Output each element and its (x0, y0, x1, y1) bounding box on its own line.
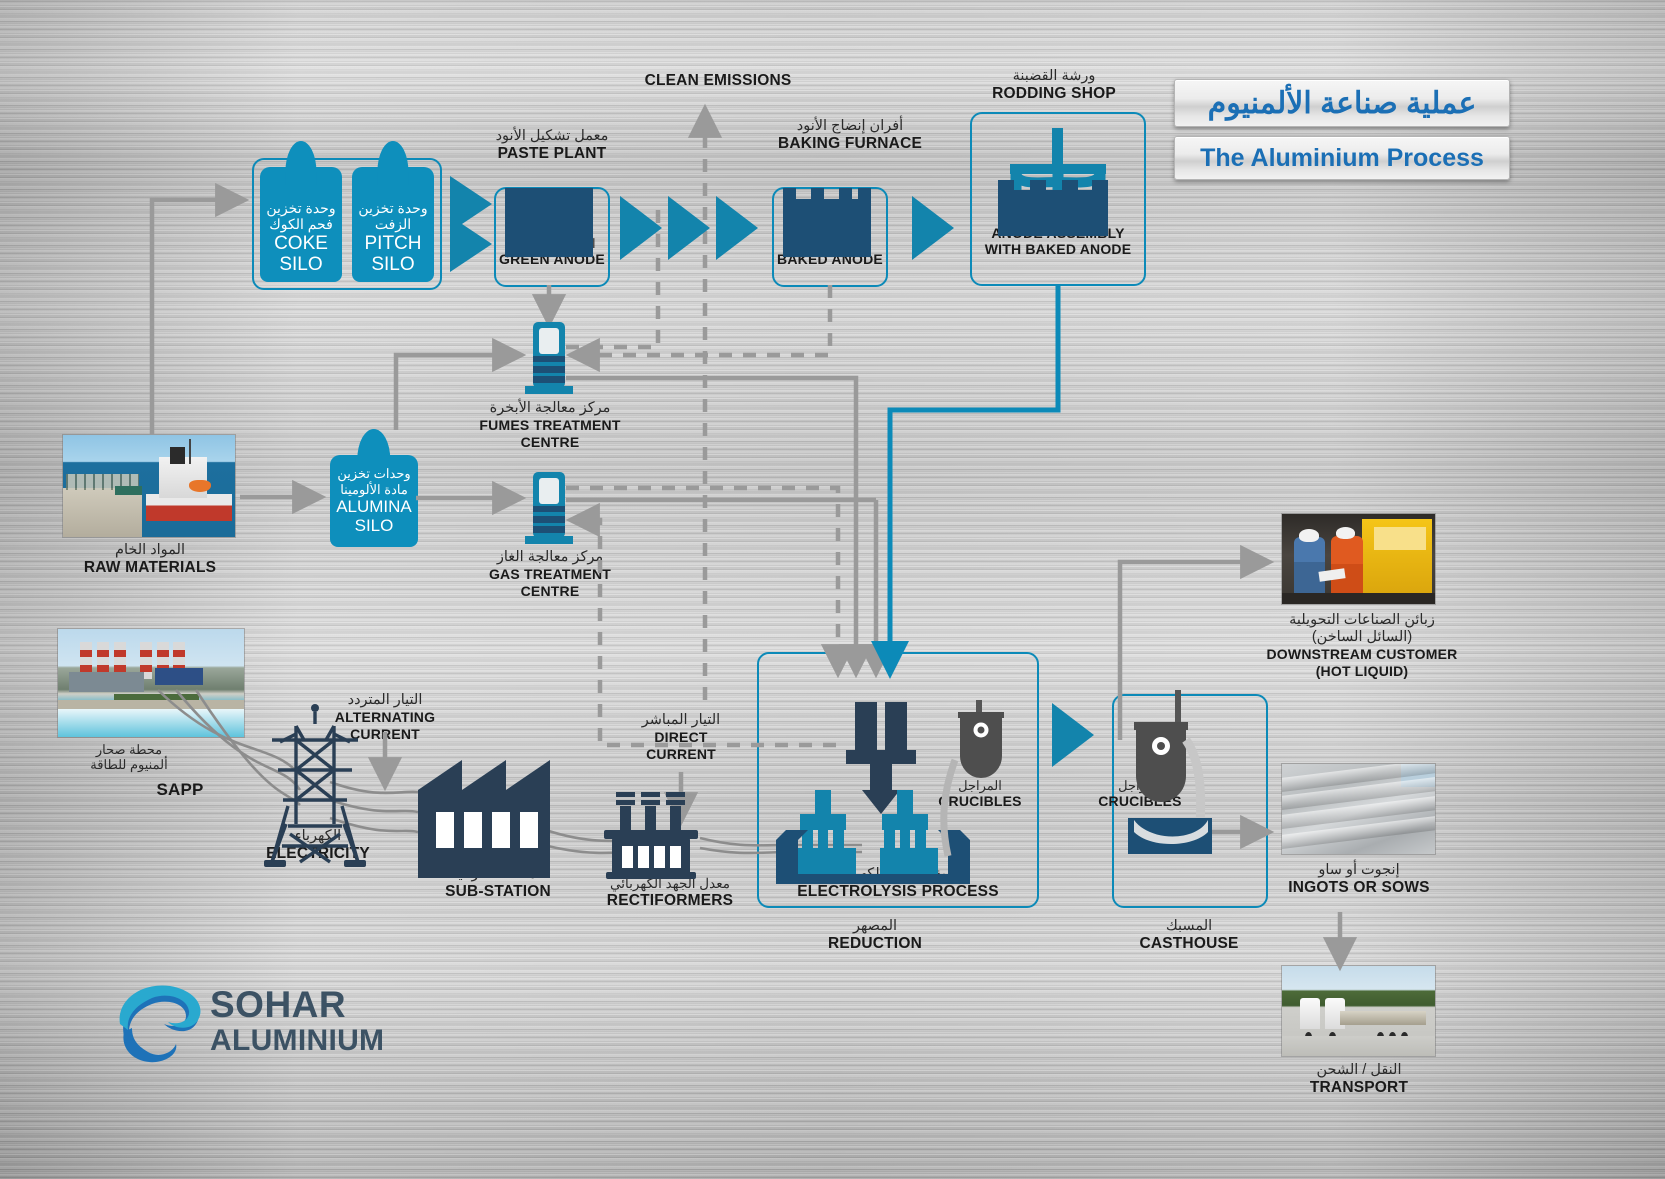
alumina-silo-ar: وحدات تخزينمادة الألومينا (337, 466, 410, 497)
power-cables (158, 690, 862, 853)
pitch-silo-label-ar: وحدة تخزين الزفت (352, 200, 434, 233)
coke-silo-label-ar: وحدة تخزين فحم الكوك (260, 200, 342, 233)
alumina-silo[interactable]: وحدات تخزينمادة الألومينا ALUMINASILO (330, 455, 418, 547)
alumina-silo-en: ALUMINASILO (336, 497, 412, 536)
aluminium-process-infographic: عملية صناعة الألمنيوم The Aluminium Proc… (0, 0, 1665, 1179)
grey-solid-connectors (152, 200, 1340, 965)
connector-layer (0, 0, 1665, 1179)
grey-dashed-connectors (566, 110, 838, 745)
pitch-silo-label-en: PITCHSILO (365, 233, 422, 276)
coke-silo-label-en: COKESILO (274, 233, 328, 276)
teal-connector-anode-to-reduction (890, 285, 1058, 672)
